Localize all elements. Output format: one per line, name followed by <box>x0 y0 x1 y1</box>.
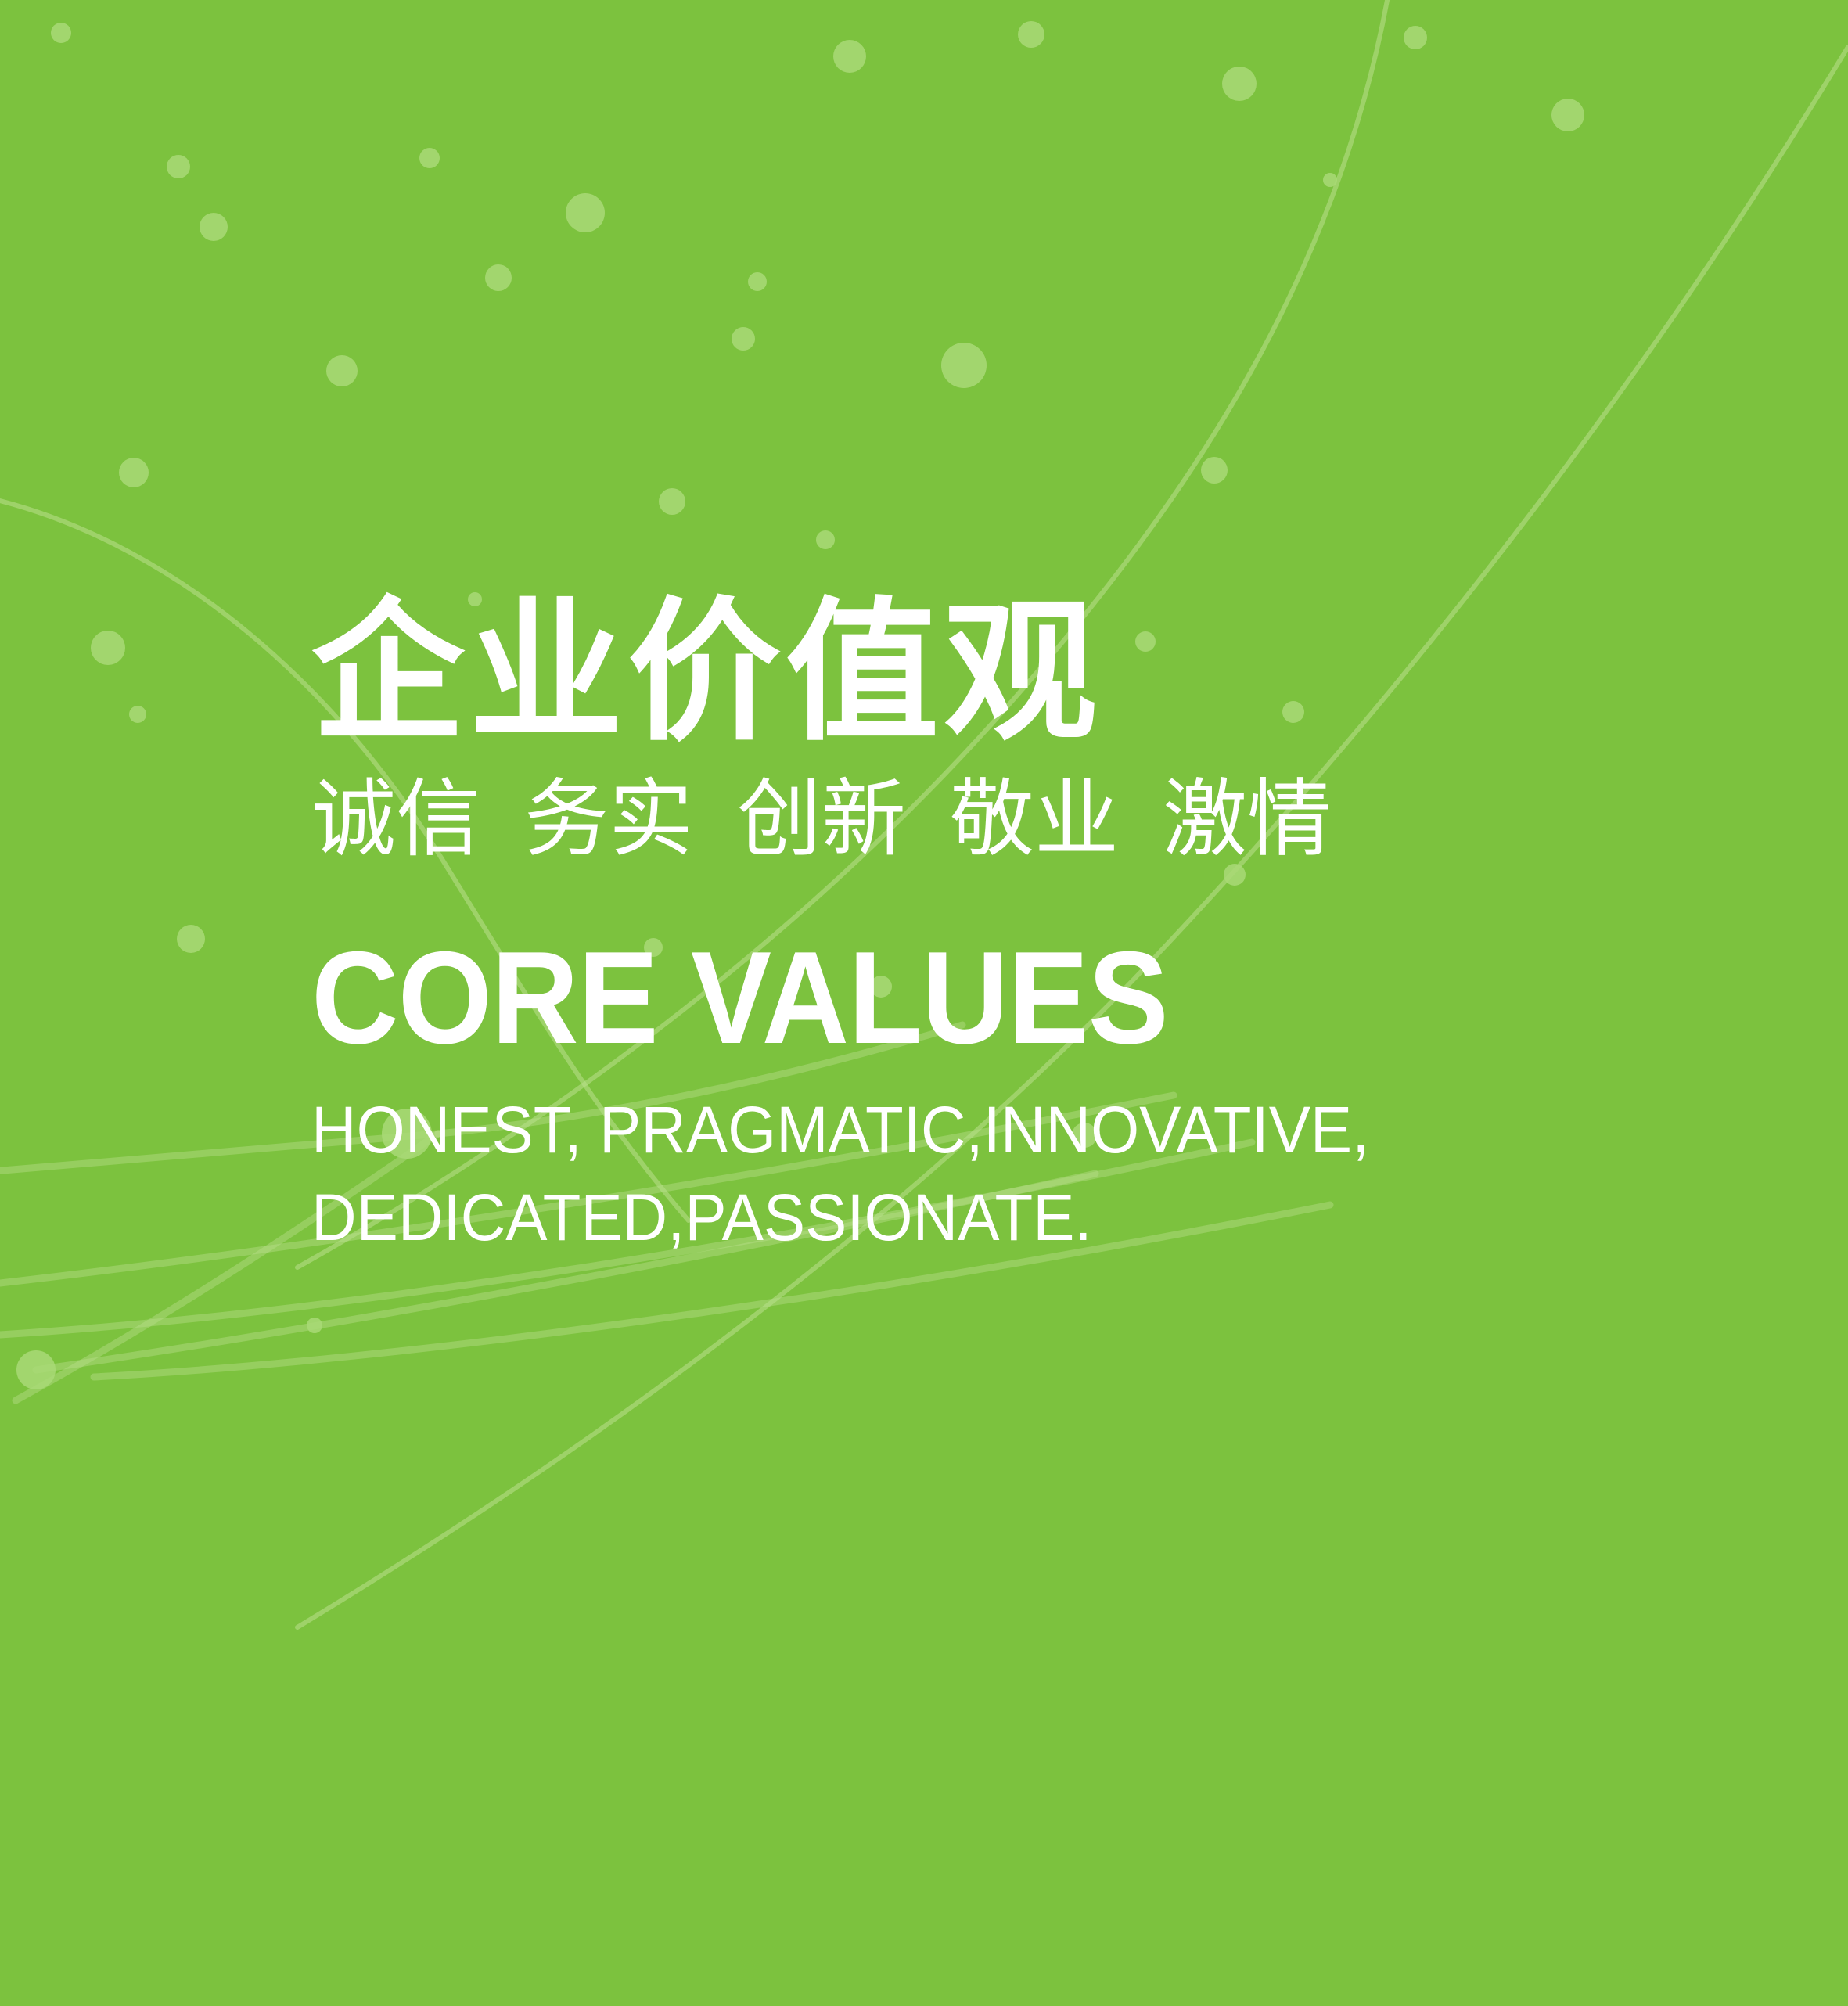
decor-dot <box>307 1318 322 1333</box>
decor-dot <box>1201 457 1228 484</box>
decor-dot <box>1222 67 1257 101</box>
decor-dot <box>16 1350 56 1389</box>
decor-dot <box>51 23 71 43</box>
decor-dot <box>816 530 835 549</box>
decor-dot <box>748 272 767 291</box>
chinese-value-3: 敬业 <box>950 771 1119 868</box>
decor-dot <box>200 213 228 241</box>
decor-dot <box>129 706 146 723</box>
decor-dot <box>732 327 755 351</box>
decor-dot <box>1551 99 1584 131</box>
decor-dot <box>167 155 190 178</box>
chinese-values-line: 诚信务实创新敬业激情 <box>311 773 1641 868</box>
decor-dot <box>566 193 605 232</box>
poster-content: 企业价值观 诚信务实创新敬业激情 CORE VALUES HONEST, PRA… <box>311 595 1641 1261</box>
english-values-line-2: DEDICATED,PASSIONATE. <box>311 1174 1575 1262</box>
decor-dot <box>833 40 866 73</box>
chinese-title: 企业价值观 <box>311 595 1641 753</box>
decor-dot <box>485 264 512 291</box>
chinese-value-4: 激情 <box>1163 771 1332 868</box>
decor-dot <box>1018 21 1044 48</box>
chinese-value-2: 创新 <box>737 771 906 868</box>
decor-dot <box>1404 26 1427 49</box>
decor-dot <box>659 488 685 515</box>
decor-dot <box>941 343 987 388</box>
chinese-value-1: 务实 <box>524 771 693 868</box>
decor-dot <box>119 458 149 487</box>
decor-dot <box>419 148 440 168</box>
decor-dot <box>177 925 205 953</box>
english-title: CORE VALUES <box>311 932 1535 1063</box>
english-values-line-1: HONEST, PRAGMATIC,INNOVATIVE, <box>311 1087 1575 1174</box>
decor-dot <box>91 631 125 665</box>
core-values-poster: 企业价值观 诚信务实创新敬业激情 CORE VALUES HONEST, PRA… <box>0 0 1848 2006</box>
decor-dot <box>326 355 358 386</box>
decor-dot <box>1323 173 1337 187</box>
chinese-value-0: 诚信 <box>311 771 480 868</box>
english-values-block: HONEST, PRAGMATIC,INNOVATIVE, DEDICATED,… <box>311 1087 1575 1261</box>
